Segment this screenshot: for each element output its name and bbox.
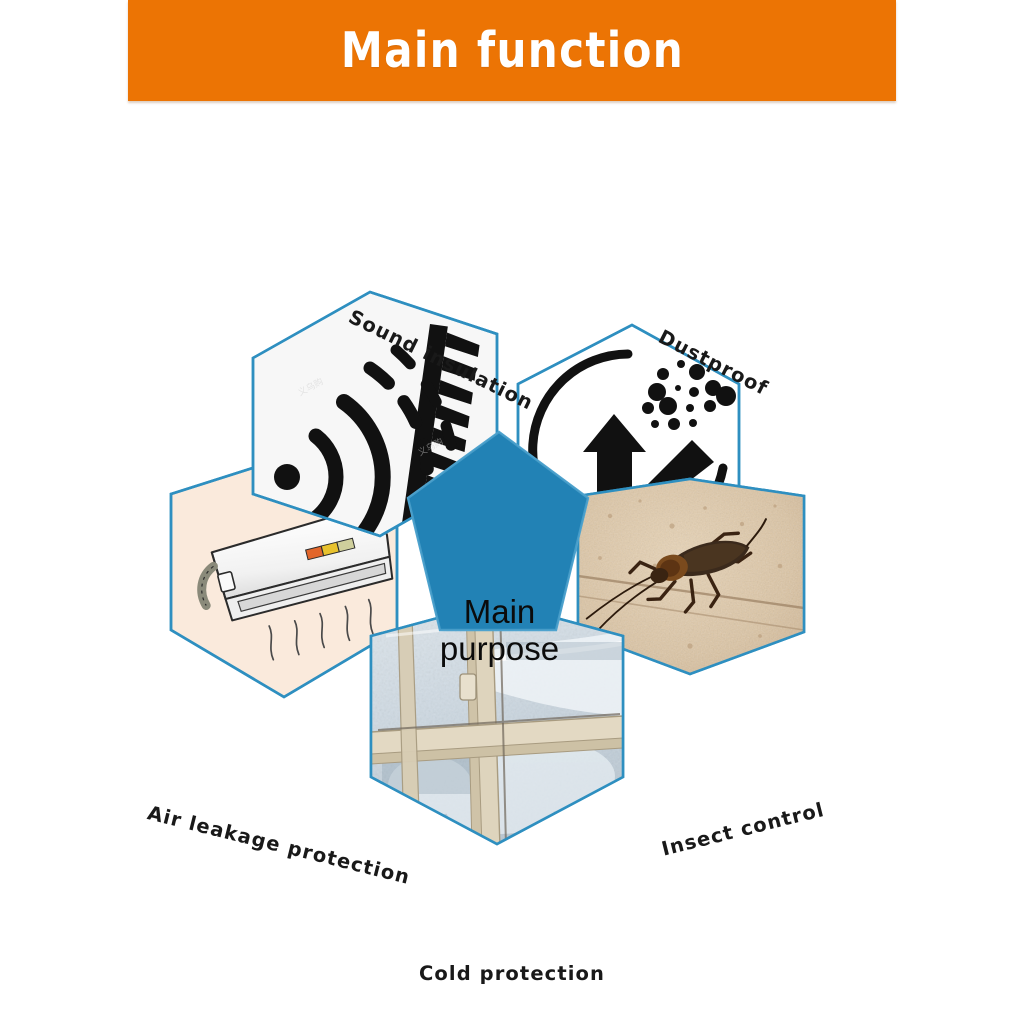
infographic-canvas: Main function (0, 0, 1024, 1024)
petal-label-cold-protection: Cold protection (419, 962, 605, 985)
frosted-window-photo-icon (365, 596, 629, 852)
petal-cold-protection (365, 596, 629, 852)
main-purpose-diagram: 义乌购 义乌购 (0, 96, 1024, 966)
page-title: Main function (340, 22, 683, 79)
header-banner: Main function (128, 0, 896, 101)
